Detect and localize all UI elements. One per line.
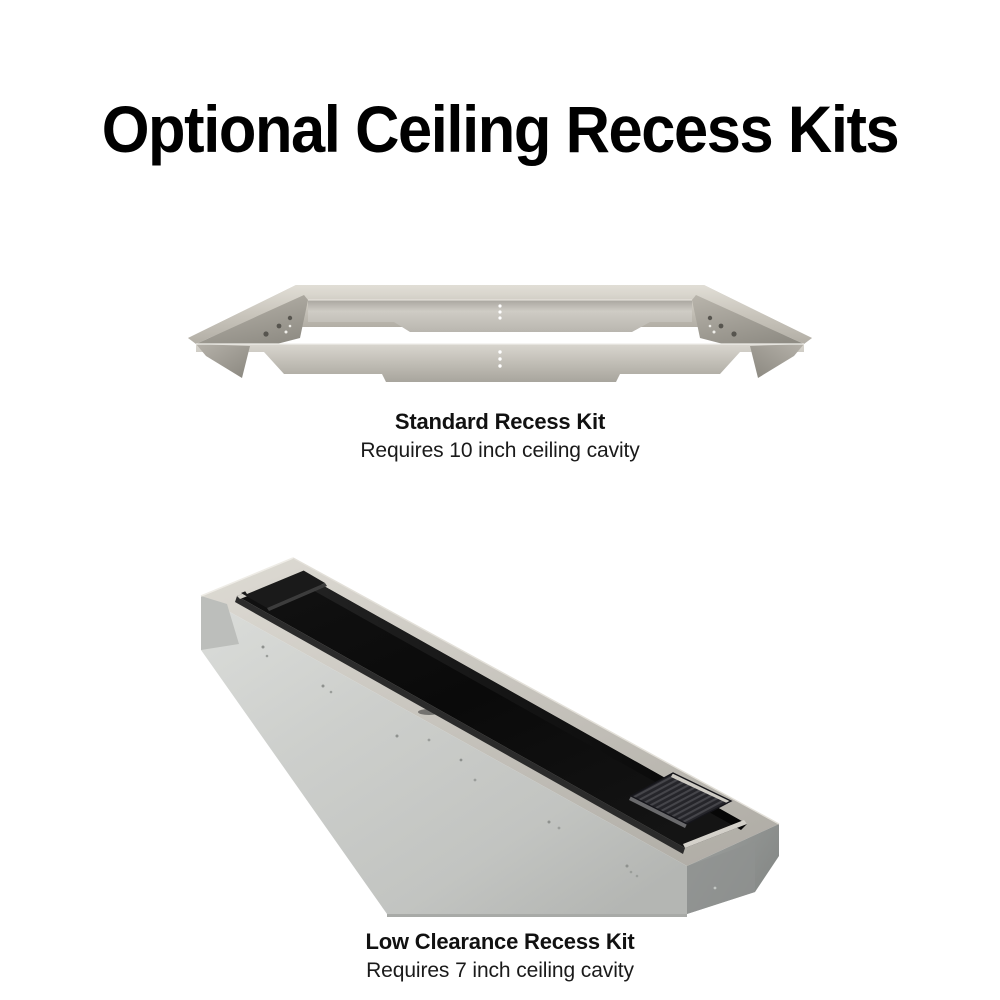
front-rivet-5 — [396, 735, 399, 738]
near-wall — [196, 344, 804, 382]
far-wall-hole-2 — [498, 310, 501, 313]
front-rivet-8 — [474, 779, 477, 782]
page-title: Optional Ceiling Recess Kits — [35, 96, 965, 162]
front-rivet-9 — [548, 821, 551, 824]
right-bolt-3 — [708, 316, 712, 320]
front-rivet-3 — [322, 685, 325, 688]
right-hole-1 — [713, 331, 716, 334]
right-bolt-2 — [719, 324, 724, 329]
box-bottom-edge — [387, 914, 687, 917]
left-hole-2 — [289, 325, 292, 328]
standard-recess-kit-illustration — [180, 282, 820, 394]
low-clearance-kit-requirement: Requires 7 inch ceiling cavity — [0, 958, 1000, 985]
left-bolt-2 — [277, 324, 282, 329]
standard-kit-name: Standard Recess Kit — [0, 408, 1000, 435]
front-rivet-2 — [266, 655, 269, 658]
standard-kit-caption: Standard Recess Kit Requires 10 inch cei… — [0, 408, 1000, 465]
standard-kit-requirement: Requires 10 inch ceiling cavity — [0, 438, 1000, 465]
product-standard-recess-kit: Standard Recess Kit Requires 10 inch cei… — [0, 282, 1000, 465]
far-wall-hole-3 — [498, 316, 501, 319]
left-bolt-3 — [288, 316, 292, 320]
far-wall-hole-1 — [498, 304, 501, 307]
front-rivet-11 — [626, 865, 629, 868]
low-clearance-recess-kit-illustration — [175, 536, 825, 918]
front-rivet-10 — [558, 827, 561, 830]
front-rivet-13 — [636, 875, 639, 878]
interior-logo-mark — [418, 709, 440, 715]
left-end-bracket — [196, 344, 250, 378]
front-rivet-7 — [460, 759, 463, 762]
near-wall-hole-1 — [498, 350, 501, 353]
front-rivet-4 — [330, 691, 333, 694]
near-wall-hole-3 — [498, 364, 501, 367]
near-wall-hole-2 — [498, 357, 501, 360]
right-end-bracket — [750, 344, 804, 378]
low-clearance-kit-caption: Low Clearance Recess Kit Requires 7 inch… — [0, 928, 1000, 985]
right-bolt-1 — [731, 331, 736, 336]
front-rivet-6 — [428, 739, 431, 742]
left-bolt-1 — [263, 331, 268, 336]
end-rivet-1 — [714, 887, 717, 890]
front-rivet-12 — [630, 871, 633, 874]
product-sheet-page: Optional Ceiling Recess Kits — [0, 0, 1000, 1000]
left-hole-1 — [285, 331, 288, 334]
product-low-clearance-recess-kit: Low Clearance Recess Kit Requires 7 inch… — [0, 536, 1000, 985]
low-clearance-kit-name: Low Clearance Recess Kit — [0, 928, 1000, 955]
front-rivet-1 — [262, 646, 265, 649]
right-hole-2 — [709, 325, 712, 328]
